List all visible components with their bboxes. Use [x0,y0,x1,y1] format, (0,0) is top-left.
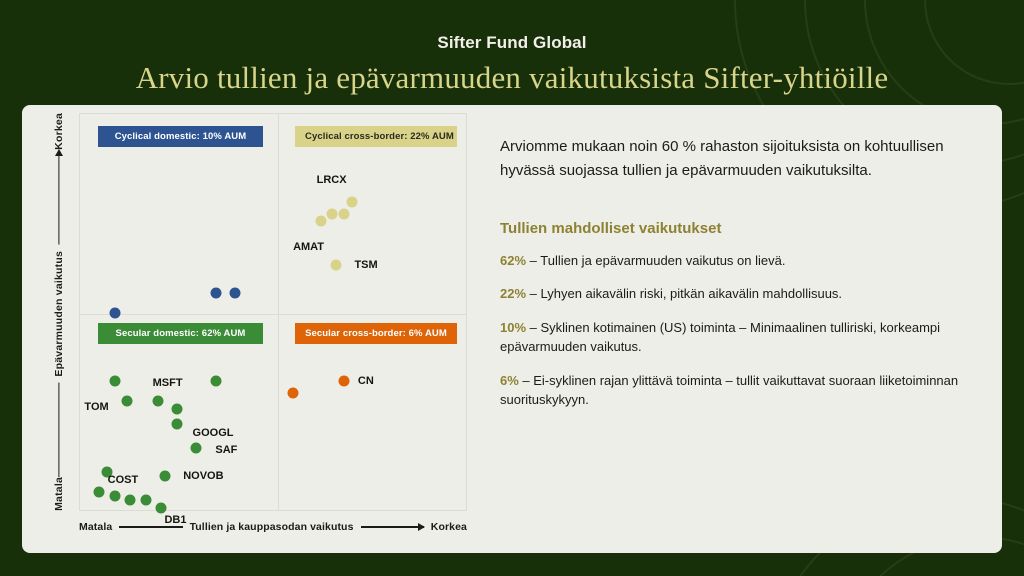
section-heading: Tullien mahdolliset vaikutukset [500,220,970,237]
bullet-percent: 62% [500,253,526,268]
data-point-label: NOVOB [183,470,223,482]
quadrant-badge-cyclical-domestic[interactable]: Cyclical domestic: 10% AUM [98,126,263,147]
data-point-label: GOOGL [193,427,234,439]
x-axis-low-label: Matala [79,521,112,533]
data-point[interactable] [210,288,221,299]
y-axis-high-label: Korkea [53,113,65,150]
data-point-label: TOM [84,401,108,413]
quadrant-badge-cyclical-cross-border[interactable]: Cyclical cross-border: 22% AUM [295,126,457,147]
grid-line-vertical [278,114,279,510]
page-title: Arvio tullien ja epävarmuuden vaikutuksi… [0,60,1024,96]
bullet-text: – Syklinen kotimainen (US) toiminta – Mi… [500,320,940,354]
scatter-chart: Korkea Epävarmuuden vaikutus Matala Cycl… [22,105,492,553]
data-point[interactable] [338,208,349,219]
bullet-percent: 10% [500,320,526,335]
data-point[interactable] [288,387,299,398]
data-point[interactable] [327,208,338,219]
data-point[interactable] [210,375,221,386]
data-point-label: MSFT [153,377,183,389]
bullet-text: – Ei-syklinen rajan ylittävä toiminta – … [500,373,958,407]
y-axis-low-label: Matala [53,477,65,511]
y-axis-title: Epävarmuuden vaikutus [53,245,65,383]
data-point-label: COST [108,474,139,486]
x-axis-title: Tullien ja kauppasodan vaikutus [190,521,354,533]
data-point[interactable] [172,419,183,430]
bullet-item: 6% – Ei-syklinen rajan ylittävä toiminta… [500,372,970,410]
x-axis-high-label: Korkea [431,521,467,533]
data-point[interactable] [121,395,132,406]
quadrant-badge-secular-domestic[interactable]: Secular domestic: 62% AUM [98,323,263,344]
content-card: Korkea Epävarmuuden vaikutus Matala Cycl… [22,105,1002,553]
x-axis-line-left [119,526,182,527]
data-point[interactable] [140,495,151,506]
data-point-label: SAF [215,444,237,456]
data-point[interactable] [125,495,136,506]
y-axis: Korkea Epävarmuuden vaikutus Matala [44,113,74,511]
data-point[interactable] [230,288,241,299]
bullet-percent: 6% [500,373,519,388]
bullet-text: – Tullien ja epävarmuuden vaikutus on li… [526,253,785,268]
data-point-label: TSM [354,259,377,271]
data-point[interactable] [160,471,171,482]
x-axis-line-right-arrow-icon [361,526,424,527]
data-point[interactable] [338,375,349,386]
bullet-list: 62% – Tullien ja epävarmuuden vaikutus o… [500,252,970,410]
data-point-label: AMAT [293,241,324,253]
data-point-label: LRCX [317,174,347,186]
plot-area: Cyclical domestic: 10% AUM Cyclical cros… [79,113,467,511]
data-point[interactable] [331,260,342,271]
bullet-percent: 22% [500,286,526,301]
grid-line-horizontal [80,314,466,315]
bullet-text: – Lyhyen aikavälin riski, pitkän aikaväl… [526,286,842,301]
lede-paragraph: Arviomme mukaan noin 60 % rahaston sijoi… [500,135,970,184]
data-point[interactable] [156,503,167,514]
y-axis-line-group: Epävarmuuden vaikutus [44,150,74,477]
data-point[interactable] [152,395,163,406]
quadrant-badge-secular-cross-border[interactable]: Secular cross-border: 6% AUM [295,323,457,344]
data-point-label: CN [358,375,374,387]
data-point[interactable] [346,196,357,207]
data-point[interactable] [109,491,120,502]
data-point[interactable] [109,375,120,386]
data-point[interactable] [191,443,202,454]
data-point[interactable] [94,487,105,498]
slide-header: Sifter Fund Global Arvio tullien ja epäv… [0,0,1024,96]
brand-eyebrow: Sifter Fund Global [0,33,1024,53]
commentary-panel: Arviomme mukaan noin 60 % rahaston sijoi… [500,135,970,410]
bullet-item: 22% – Lyhyen aikavälin riski, pitkän aik… [500,285,970,304]
data-point[interactable] [315,216,326,227]
bullet-item: 62% – Tullien ja epävarmuuden vaikutus o… [500,252,970,271]
bullet-item: 10% – Syklinen kotimainen (US) toiminta … [500,319,970,357]
x-axis: Matala Tullien ja kauppasodan vaikutus K… [79,517,467,537]
y-axis-arrow-icon [55,149,63,156]
data-point[interactable] [172,403,183,414]
data-point[interactable] [109,308,120,319]
